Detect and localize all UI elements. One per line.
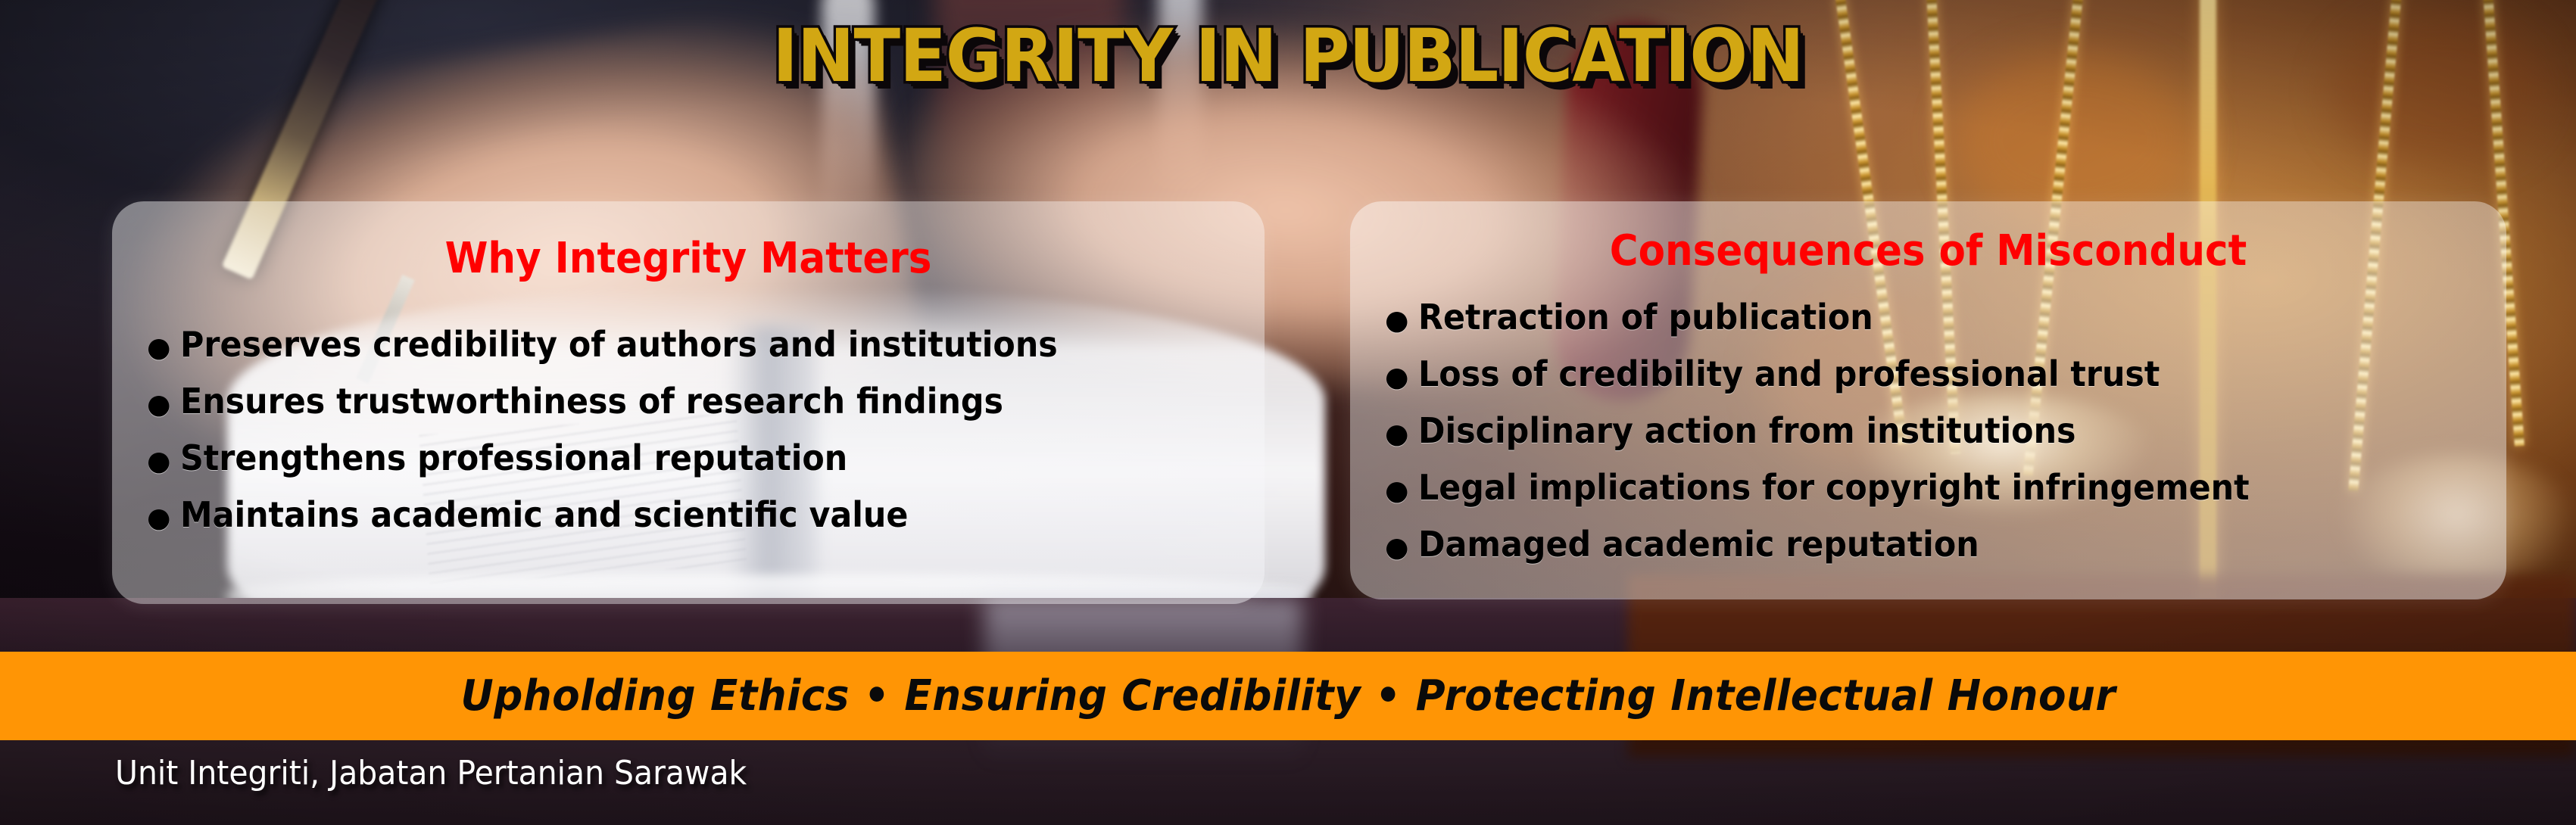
list-item: ● Legal implications for copyright infri…: [1385, 459, 2312, 516]
list-item: ● Disciplinary action from institutions: [1385, 403, 2312, 459]
bullet-dot-icon: ●: [1385, 519, 1418, 576]
bullet-dot-icon: ●: [147, 319, 180, 376]
bullet-dot-icon: ●: [147, 376, 180, 433]
list-item-label: Strengthens professional reputation: [180, 430, 847, 487]
bullet-dot-icon: ●: [147, 433, 180, 490]
list-item-label: Maintains academic and scientific value: [180, 487, 908, 543]
tagline-text: Upholding Ethics • Ensuring Credibility …: [460, 675, 2116, 718]
bullet-list-why-integrity-matters: ● Preserves credibility of authors and i…: [147, 316, 1124, 543]
list-item: ● Loss of credibility and professional t…: [1385, 346, 2312, 403]
list-item-label: Disciplinary action from institutions: [1418, 403, 2075, 459]
card-heading-consequences-of-misconduct: Consequences of Misconduct: [1396, 230, 2460, 272]
list-item: ● Maintains academic and scientific valu…: [147, 487, 1124, 543]
card-why-integrity-matters: Why Integrity Matters ● Preserves credib…: [112, 201, 1265, 604]
list-item-label: Damaged academic reputation: [1418, 516, 1979, 573]
list-item: ● Ensures trustworthiness of research fi…: [147, 373, 1124, 430]
list-item: ● Retraction of publication: [1385, 289, 2312, 346]
bullet-dot-icon: ●: [1385, 292, 1418, 349]
list-item: ● Preserves credibility of authors and i…: [147, 316, 1124, 373]
list-item-label: Retraction of publication: [1418, 289, 1873, 346]
card-consequences-of-misconduct: Consequences of Misconduct ● Retraction …: [1350, 201, 2506, 599]
bullet-dot-icon: ●: [1385, 462, 1418, 519]
card-heading-why-integrity-matters: Why Integrity Matters: [158, 238, 1218, 280]
footer-organisation: Unit Integriti, Jabatan Pertanian Sarawa…: [115, 757, 747, 790]
bullet-dot-icon: ●: [1385, 406, 1418, 462]
bullet-dot-icon: ●: [1385, 349, 1418, 406]
infographic-banner: INTEGRITY IN PUBLICATION Why Integrity M…: [0, 0, 2576, 825]
banner-title: INTEGRITY IN PUBLICATION: [77, 20, 2499, 92]
list-item-label: Loss of credibility and professional tru…: [1418, 346, 2160, 403]
list-item-label: Legal implications for copyright infring…: [1418, 459, 2250, 516]
list-item: ● Strengthens professional reputation: [147, 430, 1124, 487]
bullet-dot-icon: ●: [147, 490, 180, 546]
list-item: ● Damaged academic reputation: [1385, 516, 2312, 573]
list-item-label: Preserves credibility of authors and ins…: [180, 316, 1058, 373]
tagline-bar: Upholding Ethics • Ensuring Credibility …: [0, 652, 2576, 740]
list-item-label: Ensures trustworthiness of research find…: [180, 373, 1003, 430]
bullet-list-consequences-of-misconduct: ● Retraction of publication ● Loss of cr…: [1385, 289, 2312, 573]
